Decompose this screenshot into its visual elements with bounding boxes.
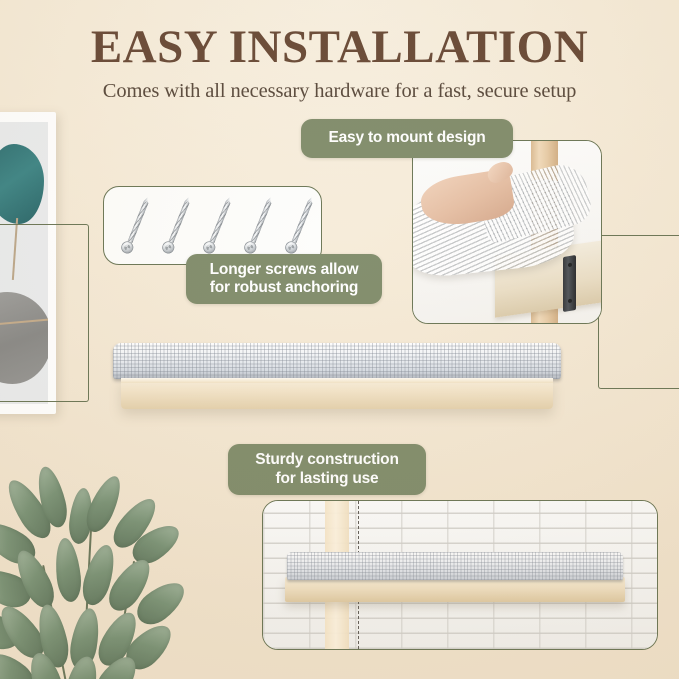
badge-longer-screws: Longer screws allow for robust anchoring xyxy=(186,254,382,304)
connector-line-right xyxy=(598,235,679,389)
mounting-demo-photo xyxy=(412,140,602,324)
plant-leaf xyxy=(53,537,84,603)
screw-head xyxy=(119,240,135,256)
page-subtitle: Comes with all necessary hardware for a … xyxy=(0,71,679,103)
screw-thread xyxy=(127,200,148,243)
badge-easy-to-mount: Easy to mount design xyxy=(301,119,513,158)
screw-thread xyxy=(250,200,271,243)
plant-leaf xyxy=(62,653,102,679)
badge-sturdy-construction: Sturdy construction for lasting use xyxy=(228,444,426,495)
installed-shelf-board xyxy=(285,577,625,602)
screw-head xyxy=(201,240,217,256)
page-title: EASY INSTALLATION xyxy=(0,0,679,71)
screw-icon xyxy=(243,199,273,255)
screw-icon xyxy=(202,199,232,255)
brick-wall-install-photo xyxy=(262,500,658,650)
screw-thread xyxy=(209,200,230,243)
shelf-wood-board xyxy=(121,378,553,409)
foliage-plant xyxy=(0,452,218,679)
screw-thread xyxy=(291,200,312,243)
screw-icon xyxy=(284,199,314,255)
screw-head xyxy=(242,240,258,256)
floating-shelf-product xyxy=(113,343,561,413)
shelf-woven-cushion xyxy=(113,343,561,379)
screw-head xyxy=(160,240,176,256)
photo-black-bracket xyxy=(563,255,576,312)
art-leaf-shape xyxy=(0,144,44,224)
screw-icon xyxy=(120,199,150,255)
screw-head xyxy=(283,240,299,256)
screw-thread xyxy=(168,200,189,243)
header: EASY INSTALLATION Comes with all necessa… xyxy=(0,0,679,103)
screw-icon xyxy=(161,199,191,255)
connector-line-left xyxy=(0,224,89,402)
installed-shelf-cushion xyxy=(287,552,623,580)
infographic-canvas: EASY INSTALLATION Comes with all necessa… xyxy=(0,0,679,679)
